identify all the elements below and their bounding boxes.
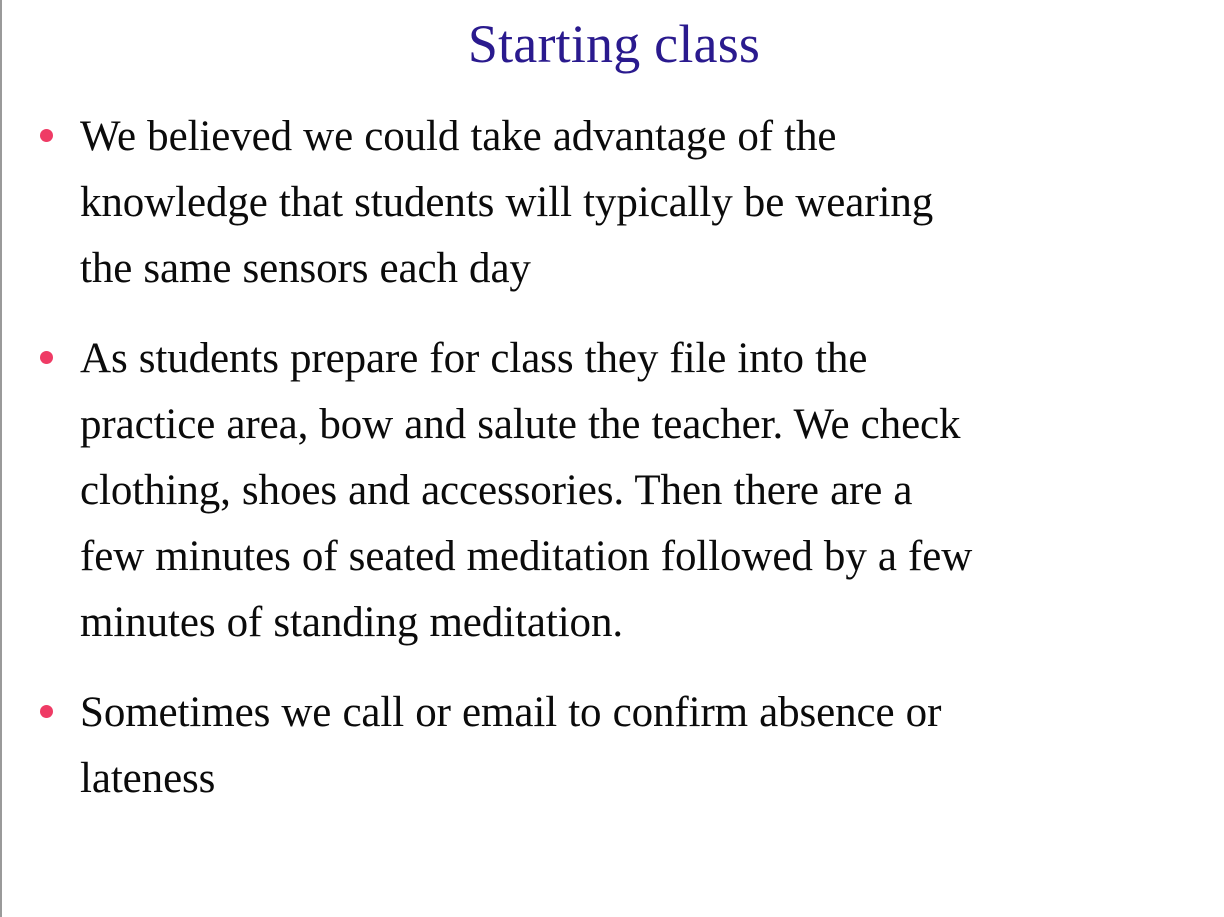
text-line: knowledge that students will typically b… bbox=[80, 170, 1224, 236]
text-line: We believed we could take advantage of t… bbox=[80, 104, 1224, 170]
bullet-dot-icon bbox=[40, 705, 53, 718]
list-item: As students prepare for class they file … bbox=[24, 326, 1224, 656]
text-line: minutes of standing meditation. bbox=[80, 590, 1224, 656]
bullet-dot-icon bbox=[40, 129, 53, 142]
list-item-text: As students prepare for class they file … bbox=[80, 326, 1224, 656]
text-line: As students prepare for class they file … bbox=[80, 326, 1224, 392]
text-line: the same sensors each day bbox=[80, 236, 1224, 302]
list-item-text: We believed we could take advantage of t… bbox=[80, 104, 1224, 302]
text-line: few minutes of seated meditation followe… bbox=[80, 524, 1224, 590]
text-line: practice area, bow and salute the teache… bbox=[80, 392, 1224, 458]
bullet-marker bbox=[24, 680, 80, 746]
bullet-dot-icon bbox=[40, 351, 53, 364]
bullet-marker bbox=[24, 326, 80, 392]
bullet-list: We believed we could take advantage of t… bbox=[24, 104, 1224, 812]
list-item-text: Sometimes we call or email to confirm ab… bbox=[80, 680, 1224, 812]
page-title: Starting class bbox=[2, 8, 1224, 80]
presentation-slide: Starting class We believed we could take… bbox=[0, 0, 1224, 917]
text-line: clothing, shoes and accessories. Then th… bbox=[80, 458, 1224, 524]
bullet-marker bbox=[24, 104, 80, 170]
text-line: lateness bbox=[80, 746, 1224, 812]
list-item: Sometimes we call or email to confirm ab… bbox=[24, 680, 1224, 812]
text-line: Sometimes we call or email to confirm ab… bbox=[80, 680, 1224, 746]
list-item: We believed we could take advantage of t… bbox=[24, 104, 1224, 302]
